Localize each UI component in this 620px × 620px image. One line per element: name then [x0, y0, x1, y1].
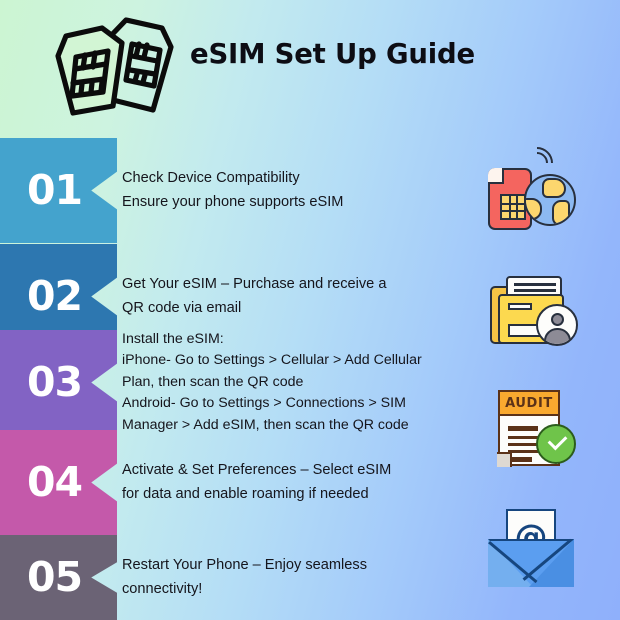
step-text-3: Install the eSIM: iPhone- Go to Settings… — [122, 330, 462, 435]
step-number-block-3: 03 — [0, 330, 117, 435]
step-line: Check Device Compatibility — [122, 167, 462, 190]
step-text-4: Activate & Set Preferences – Select eSIM… — [122, 430, 462, 535]
green-check-icon — [536, 424, 576, 464]
sim-chip-shape — [500, 194, 526, 220]
step-number-5: 05 — [27, 557, 82, 598]
folder-contact-icon — [484, 264, 584, 356]
step-line: for data and enable roaming if needed — [122, 483, 462, 506]
step-line: Activate & Set Preferences – Select eSIM — [122, 459, 462, 482]
step-line: Ensure your phone supports eSIM — [122, 191, 462, 214]
page-title: eSIM Set Up Guide — [190, 38, 590, 70]
audit-label: AUDIT — [500, 392, 558, 416]
step-line: connectivity! — [122, 578, 462, 601]
step-line: Plan, then scan the QR code — [122, 372, 462, 394]
email-envelope-icon: @ — [484, 505, 584, 597]
step-number-1: 01 — [27, 170, 82, 211]
step-number-4: 04 — [27, 462, 82, 503]
step-line: Restart Your Phone – Enjoy seamless — [122, 554, 462, 577]
dual-sim-card-icon — [40, 14, 180, 119]
step-line: Android- Go to Settings > Connections > … — [122, 393, 462, 415]
globe-shape — [524, 174, 576, 226]
esim-setup-infographic: eSIM Set Up Guide 01 Check Device Compat… — [0, 0, 620, 620]
step-number-2: 02 — [27, 276, 82, 317]
step-text-5: Restart Your Phone – Enjoy seamless conn… — [122, 535, 462, 620]
audit-document-check-icon: AUDIT — [486, 382, 586, 474]
step-line: iPhone- Go to Settings > Cellular > Add … — [122, 350, 462, 372]
step-text-1: Check Device Compatibility Ensure your p… — [122, 138, 462, 243]
step-number-block-1: 01 — [0, 138, 117, 243]
header: eSIM Set Up Guide — [0, 0, 620, 132]
step-number-3: 03 — [27, 362, 82, 403]
step-number-block-5: 05 — [0, 535, 117, 620]
step-number-block-4: 04 — [0, 430, 117, 535]
step-line: Get Your eSIM – Purchase and receive a — [122, 273, 462, 296]
sim-card-globe-icon — [482, 150, 582, 242]
step-line: Install the eSIM: — [122, 329, 462, 351]
step-line: QR code via email — [122, 297, 462, 320]
person-badge-shape — [536, 304, 578, 346]
